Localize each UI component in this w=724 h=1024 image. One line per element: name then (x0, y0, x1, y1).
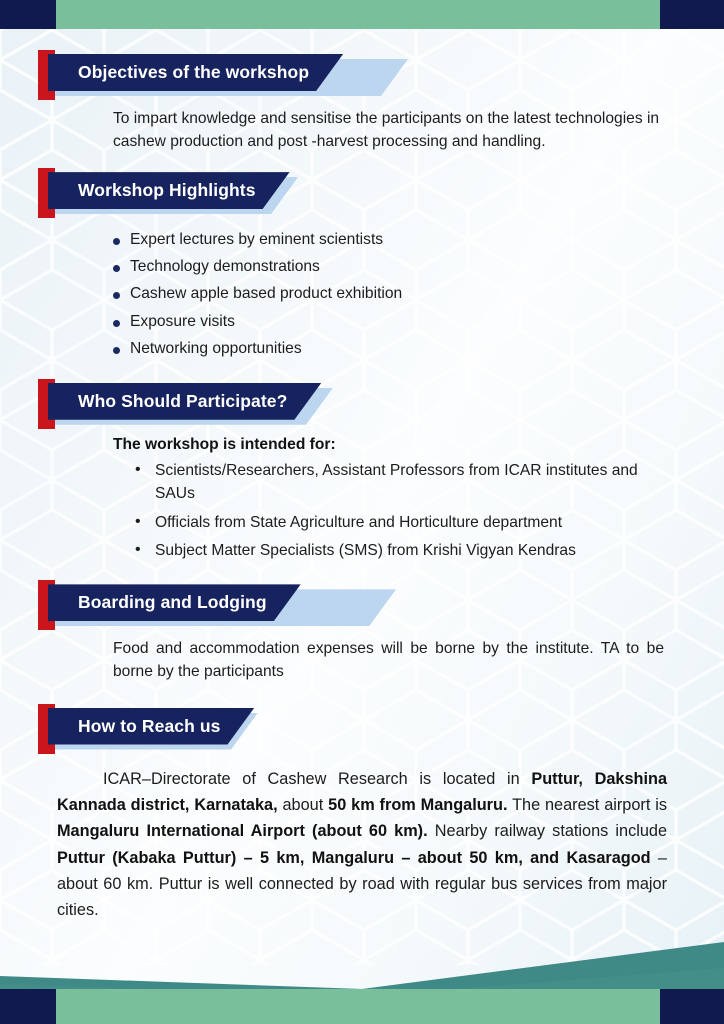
list-item: Networking opportunities (113, 335, 724, 362)
flyer-page: Objectives of the workshop To impart kno… (0, 0, 724, 1024)
top-banner-navy (0, 0, 724, 29)
reach-text-regular: Nearby railway stations include (428, 822, 667, 840)
section-heading-objectives: Objectives of the workshop (38, 54, 724, 96)
list-item: Cashew apple based product exhibition (113, 280, 724, 307)
section-heading-highlights: Workshop Highlights (38, 172, 724, 214)
section-heading-boarding: Boarding and Lodging (38, 584, 724, 626)
top-banner-green (56, 0, 660, 29)
reach-text-regular: ICAR–Directorate of Cashew Research is l… (103, 770, 531, 788)
list-item: Scientists/Researchers, Assistant Profes… (133, 459, 664, 506)
highlights-list: Expert lectures by eminent scientists Te… (113, 226, 724, 362)
reach-text-bold: 50 km from Mangaluru. (328, 796, 507, 814)
section-title: Who Should Participate? (48, 391, 321, 412)
heading-plate: How to Reach us (48, 708, 255, 745)
reach-us-paragraph: ICAR–Directorate of Cashew Research is l… (57, 766, 667, 924)
footer-band-navy (0, 989, 724, 1024)
list-item: Subject Matter Specialists (SMS) from Kr… (133, 539, 664, 562)
section-title: How to Reach us (48, 716, 255, 737)
section-heading-participants: Who Should Participate? (38, 383, 724, 425)
participants-list: Scientists/Researchers, Assistant Profes… (133, 459, 664, 563)
reach-text-bold: Puttur (Kabaka Puttur) – 5 km, Mangaluru… (57, 849, 651, 867)
reach-text-bold: Mangaluru International Airport (about 6… (57, 822, 428, 840)
participants-lead: The workshop is intended for: (113, 436, 724, 454)
heading-plate: Workshop Highlights (48, 172, 290, 209)
heading-plate: Objectives of the workshop (48, 54, 343, 91)
section-title: Workshop Highlights (48, 180, 290, 201)
list-item: Officials from State Agriculture and Hor… (133, 511, 664, 534)
list-item: Expert lectures by eminent scientists (113, 226, 724, 253)
reach-text-regular: The nearest airport is (507, 796, 667, 814)
heading-plate: Who Should Participate? (48, 383, 321, 420)
section-heading-reach: How to Reach us (38, 708, 724, 750)
objectives-paragraph: To impart knowledge and sensitise the pa… (113, 107, 664, 153)
heading-plate: Boarding and Lodging (48, 584, 301, 621)
section-title: Objectives of the workshop (48, 62, 343, 83)
list-item: Technology demonstrations (113, 253, 724, 280)
reach-us-rich-text: ICAR–Directorate of Cashew Research is l… (57, 770, 667, 920)
content-area: Objectives of the workshop To impart kno… (0, 29, 724, 994)
list-item: Exposure visits (113, 308, 724, 335)
boarding-paragraph: Food and accommodation expenses will be … (113, 637, 664, 683)
section-title: Boarding and Lodging (48, 592, 301, 613)
footer-band-green (56, 989, 660, 1024)
reach-text-regular: about (278, 796, 329, 814)
